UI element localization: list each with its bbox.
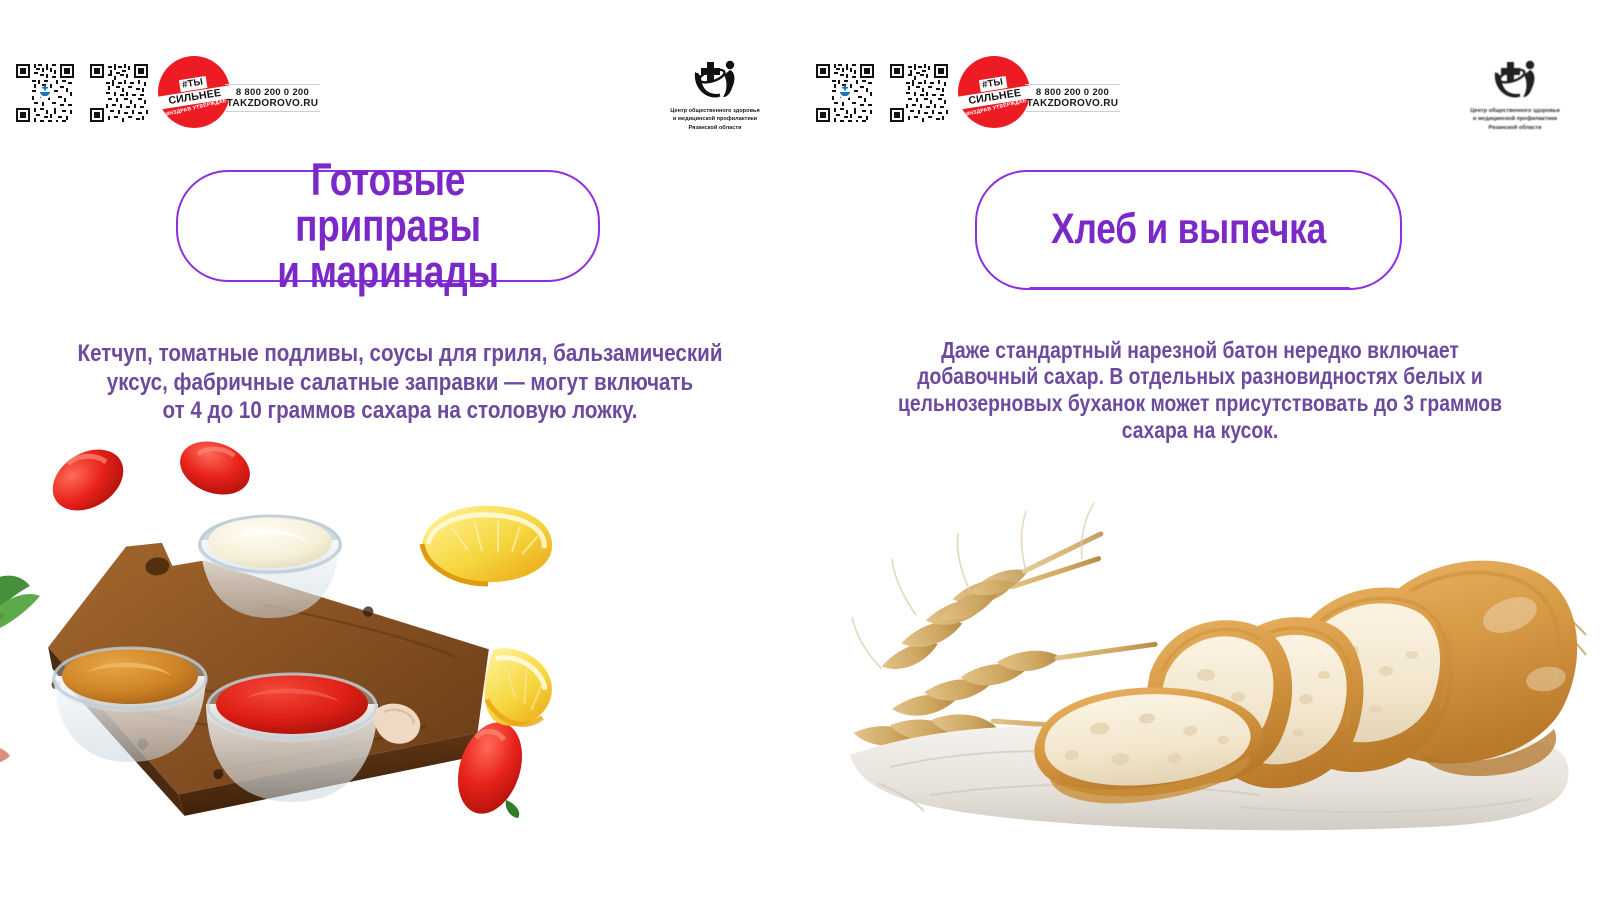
qr-code-icon-2[interactable] [888,62,950,124]
contact-divider-bottom [225,111,320,112]
contact-website: TAKZDOROVO.RU [225,98,320,111]
slide-deck: #ТЫ СИЛЬНЕЕ МИНЗДРАВ УТВЕРЖДАЕТ! 8 800 2… [0,0,1600,900]
contact-phone: 8 800 200 0 200 [225,85,320,98]
slide-title-pill: Хлеб и выпечка [975,170,1402,290]
qr-code-icon-1[interactable] [814,62,876,124]
health-center-icon [687,56,743,104]
org-line-3: Рязанской области [1455,124,1575,132]
slide-condiments: #ТЫ СИЛЬНЕЕ МИНЗДРАВ УТВЕРЖДАЕТ! 8 800 2… [0,0,800,900]
page-title: Хлеб и выпечка [1051,208,1326,252]
org-line-1: Центр общественного здоровья [655,107,775,115]
org-logo: Центр общественного здоровья и медицинск… [1455,56,1575,132]
ty-silnee-badge[interactable]: #ТЫ СИЛЬНЕЕ МИНЗДРАВ УТВЕРЖДАЕТ! [958,56,1030,128]
qr-code-icon-2[interactable] [88,62,150,124]
qr-code-icon-1[interactable] [14,62,76,124]
org-line-3: Рязанской области [655,124,775,132]
contact-block: 8 800 200 0 200 TAKZDOROVO.RU [1025,84,1120,112]
slide-header: #ТЫ СИЛЬНЕЕ МИНЗДРАВ УТВЕРЖДАЕТ! 8 800 2… [0,58,800,138]
org-line-2: и медицинской профилактики [655,115,775,123]
bread-photo [820,455,1590,855]
body-text-content: Даже стандартный нарезной батон нередко … [877,337,1522,444]
contact-divider-bottom [1025,111,1120,112]
slide-header: #ТЫ СИЛЬНЕЕ МИНЗДРАВ УТВЕРЖДАЕТ! 8 800 2… [800,58,1600,138]
condiments-photo [0,420,650,870]
body-text-content: Кетчуп, томатные подливы, соусы для грил… [71,340,730,425]
health-center-icon [1487,56,1543,104]
org-line-1: Центр общественного здоровья [1455,107,1575,115]
contact-website: TAKZDOROVO.RU [1025,98,1120,111]
org-logo: Центр общественного здоровья и медицинск… [655,56,775,132]
ty-silnee-badge[interactable]: #ТЫ СИЛЬНЕЕ МИНЗДРАВ УТВЕРЖДАЕТ! [158,56,230,128]
contact-phone: 8 800 200 0 200 [1025,85,1120,98]
slide-body-text: Даже стандартный нарезной батон нередко … [816,310,1584,470]
page-title: Готовые приправы и маринады [216,157,560,295]
slide-bread: #ТЫ СИЛЬНЕЕ МИНЗДРАВ УТВЕРЖДАЕТ! 8 800 2… [800,0,1600,900]
slide-title-pill: Готовые приправы и маринады [176,170,600,282]
org-line-2: и медицинской профилактики [1455,115,1575,123]
contact-block: 8 800 200 0 200 TAKZDOROVO.RU [225,84,320,112]
